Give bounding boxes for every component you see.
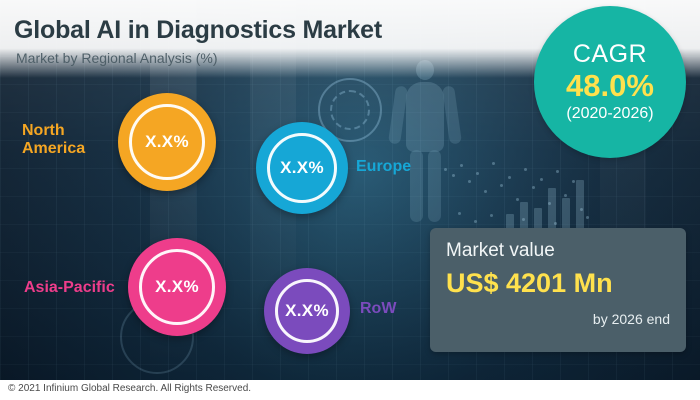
region-value-north-america: X.X% — [145, 132, 189, 152]
infographic-root: Global AI in Diagnostics Market Market b… — [0, 0, 700, 400]
market-value-card: Market value US$ 4201 Mn by 2026 end — [430, 228, 686, 352]
region-label-north-america: North America — [22, 122, 114, 158]
footer: © 2021 Infinium Global Research. All Rig… — [0, 380, 700, 400]
cagr-label: CAGR — [573, 41, 647, 67]
coin-ring: X.X% — [129, 104, 205, 180]
coin-ring: X.X% — [267, 133, 337, 203]
region-coin-row: X.X% — [264, 268, 350, 354]
page-subtitle: Market by Regional Analysis (%) — [16, 50, 218, 66]
cagr-period: (2020-2026) — [566, 105, 653, 123]
region-coin-north-america: X.X% — [118, 93, 216, 191]
region-label-asia-pacific: Asia-Pacific — [24, 279, 115, 297]
region-value-europe: X.X% — [280, 158, 324, 178]
coin-ring: X.X% — [139, 249, 215, 325]
region-label-row: RoW — [360, 300, 396, 318]
region-value-asia-pacific: X.X% — [155, 277, 199, 297]
cagr-value: 48.0% — [566, 68, 654, 104]
region-coin-europe: X.X% — [256, 122, 348, 214]
page-title: Global AI in Diagnostics Market — [14, 16, 382, 45]
market-value-title: Market value — [446, 240, 670, 262]
cagr-badge: CAGR 48.0% (2020-2026) — [534, 6, 686, 158]
market-value-note: by 2026 end — [446, 311, 670, 327]
market-value-amount: US$ 4201 Mn — [446, 268, 670, 299]
region-label-europe: Europe — [356, 158, 411, 176]
region-value-row: X.X% — [285, 301, 329, 321]
copyright-text: © 2021 Infinium Global Research. All Rig… — [8, 383, 251, 394]
coin-ring: X.X% — [275, 279, 339, 343]
region-coin-asia-pacific: X.X% — [128, 238, 226, 336]
